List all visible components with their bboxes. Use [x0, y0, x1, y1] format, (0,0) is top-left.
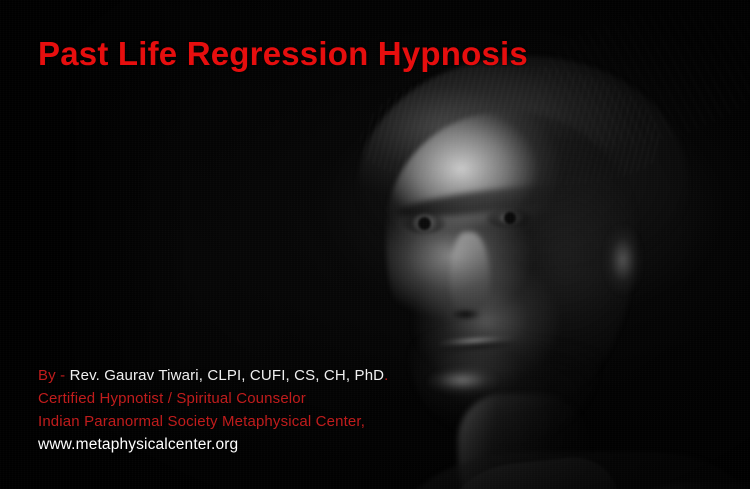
poster-canvas: Past Life Regression Hypnosis By - Rev. …	[0, 0, 750, 489]
page-title: Past Life Regression Hypnosis	[38, 36, 528, 72]
credit-author-suffix: .	[384, 367, 388, 384]
credit-line-website[interactable]: www.metaphysicalcenter.org	[38, 433, 458, 456]
credit-author-name: Rev. Gaurav Tiwari, CLPI, CUFI, CS, CH, …	[70, 367, 385, 384]
credit-author-prefix: By -	[38, 367, 70, 384]
credit-line-role: Certified Hypnotist / Spiritual Counselo…	[38, 387, 458, 410]
credit-line-organization: Indian Paranormal Society Metaphysical C…	[38, 410, 458, 433]
credit-line-author: By - Rev. Gaurav Tiwari, CLPI, CUFI, CS,…	[38, 364, 458, 387]
credits-block: By - Rev. Gaurav Tiwari, CLPI, CUFI, CS,…	[38, 364, 458, 456]
